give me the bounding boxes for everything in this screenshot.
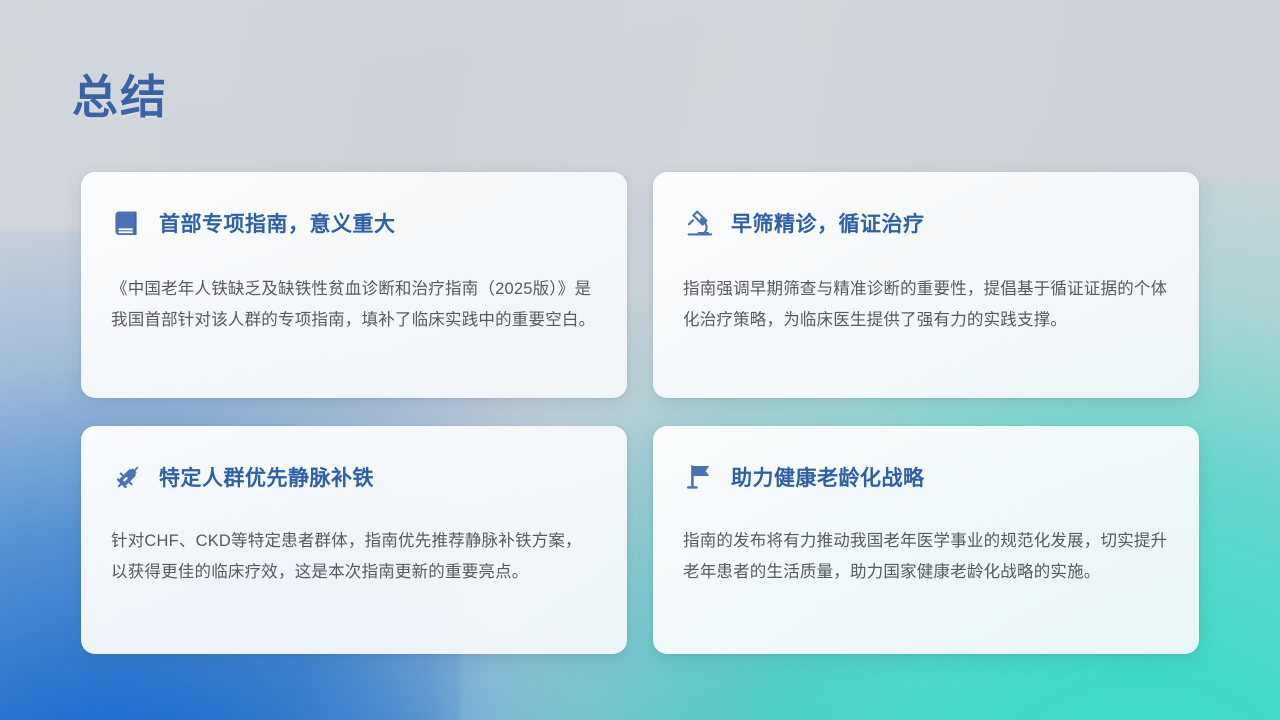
page-title: 总结 — [72, 72, 168, 123]
book-icon — [111, 206, 145, 240]
summary-card: 助力健康老龄化战略 指南的发布将有力推动我国老年医学事业的规范化发展，切实提升老… — [653, 426, 1199, 654]
card-body-text: 指南的发布将有力推动我国老年医学事业的规范化发展，切实提升老年患者的生活质量，助… — [683, 526, 1169, 587]
card-body-text: 针对CHF、CKD等特定患者群体，指南优先推荐静脉补铁方案，以获得更佳的临床疗效… — [111, 526, 597, 587]
card-title: 首部专项指南，意义重大 — [159, 208, 396, 238]
summary-card: 首部专项指南，意义重大 《中国老年人铁缺乏及缺铁性贫血诊断和治疗指南（2025版… — [81, 172, 627, 398]
slide-canvas: 总结 首部专项指南，意义重大 《中国老年人铁缺乏及缺铁性贫血诊断和治疗指南（20… — [0, 0, 1280, 720]
summary-card-grid: 首部专项指南，意义重大 《中国老年人铁缺乏及缺铁性贫血诊断和治疗指南（2025版… — [81, 172, 1199, 654]
microscope-icon — [683, 206, 717, 240]
summary-card: 特定人群优先静脉补铁 针对CHF、CKD等特定患者群体，指南优先推荐静脉补铁方案… — [81, 426, 627, 654]
summary-card: 早筛精诊，循证治疗 指南强调早期筛查与精准诊断的重要性，提倡基于循证证据的个体化… — [653, 172, 1199, 398]
flag-icon — [683, 460, 717, 494]
card-title: 早筛精诊，循证治疗 — [731, 208, 925, 238]
card-title: 助力健康老龄化战略 — [731, 462, 925, 492]
syringe-icon — [111, 460, 145, 494]
card-header: 助力健康老龄化战略 — [683, 458, 1169, 496]
card-body-text: 指南强调早期筛查与精准诊断的重要性，提倡基于循证证据的个体化治疗策略，为临床医生… — [683, 274, 1169, 335]
card-header: 特定人群优先静脉补铁 — [111, 458, 597, 496]
card-header: 早筛精诊，循证治疗 — [683, 204, 1169, 242]
card-header: 首部专项指南，意义重大 — [111, 204, 597, 242]
card-title: 特定人群优先静脉补铁 — [159, 462, 374, 492]
card-body-text: 《中国老年人铁缺乏及缺铁性贫血诊断和治疗指南（2025版）》是我国首部针对该人群… — [111, 274, 597, 335]
